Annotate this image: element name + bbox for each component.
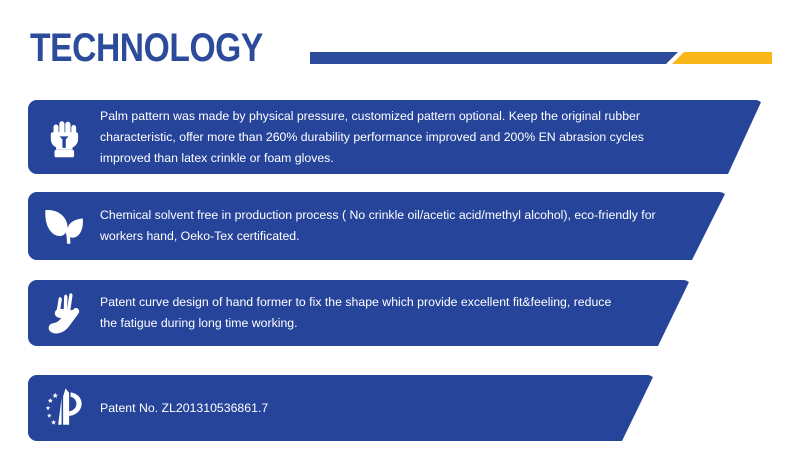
feature-row: Chemical solvent free in production proc… [28,192,728,260]
page-header: TECHNOLOGY [0,0,790,92]
header-divider-rule [310,52,772,64]
feature-text: Chemical solvent free in production proc… [100,205,728,247]
feature-text: Patent No. ZL201310536861.7 [100,399,656,417]
feature-row: Patent No. ZL201310536861.7 [28,375,656,441]
header-rule-blue-segment [310,52,678,64]
eco-leaf-icon [28,192,100,260]
feature-text: Palm pattern was made by physical pressu… [100,106,764,169]
open-hand-icon [28,280,100,346]
patent-emblem-icon [28,375,100,441]
feature-list: Palm pattern was made by physical pressu… [0,92,790,475]
feature-row: Patent curve design of hand former to fi… [28,280,692,346]
header-rule-yellow-segment [672,52,772,64]
feature-row: Palm pattern was made by physical pressu… [28,100,764,174]
page-title: TECHNOLOGY [30,26,263,70]
raised-fist-icon [28,100,100,174]
feature-text: Patent curve design of hand former to fi… [100,292,692,334]
